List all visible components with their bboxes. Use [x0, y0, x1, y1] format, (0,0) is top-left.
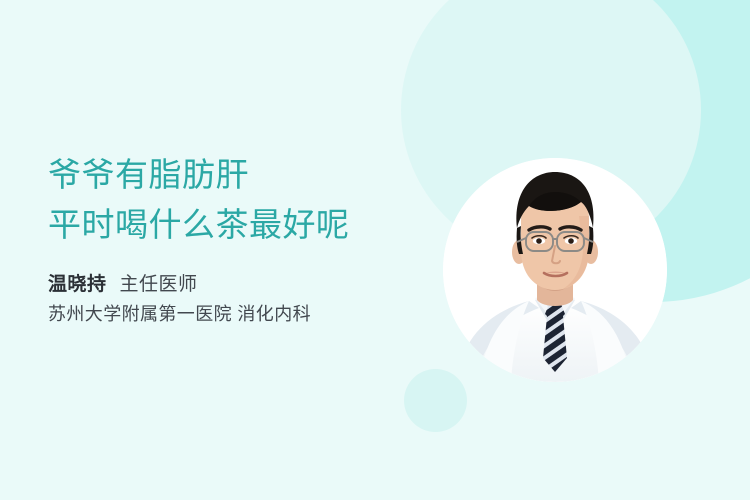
doctor-portrait-circle [443, 158, 667, 382]
doctor-affiliation: 苏州大学附属第一医院 消化内科 [48, 299, 418, 329]
doctor-professional-title: 主任医师 [120, 274, 198, 295]
question-title-line-2: 平时喝什么茶最好呢 [48, 200, 418, 250]
text-column: 爷爷有脂肪肝 平时喝什么茶最好呢 温晓持主任医师 苏州大学附属第一医院 消化内科 [48, 150, 418, 329]
health-qa-card: 爷爷有脂肪肝 平时喝什么茶最好呢 温晓持主任医师 苏州大学附属第一医院 消化内科 [0, 0, 750, 500]
doctor-name-row: 温晓持主任医师 [48, 271, 418, 299]
doctor-info-block: 温晓持主任医师 苏州大学附属第一医院 消化内科 [48, 271, 418, 329]
doctor-portrait-image [443, 158, 667, 382]
doctor-name: 温晓持 [48, 274, 107, 295]
question-title-line-1: 爷爷有脂肪肝 [48, 150, 418, 200]
